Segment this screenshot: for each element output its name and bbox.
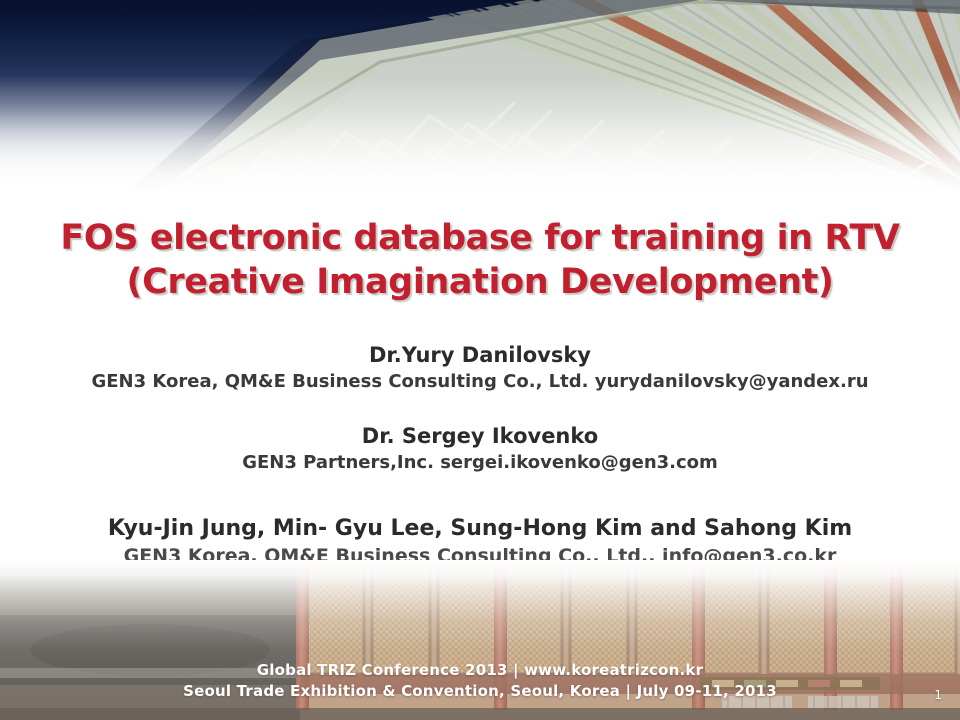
author-name: Dr.Yury Danilovsky — [0, 342, 960, 369]
presentation-slide: FOS electronic database for training in … — [0, 0, 960, 720]
author-block-1: Dr.Yury Danilovsky GEN3 Korea, QM&E Busi… — [0, 342, 960, 395]
author-name: Kyu-Jin Jung, Min- Gyu Lee, Sung-Hong Ki… — [0, 514, 960, 543]
footer-conference-line: Global TRIZ Conference 2013 | www.koreat… — [0, 660, 960, 681]
author-list: Dr.Yury Danilovsky GEN3 Korea, QM&E Busi… — [0, 342, 960, 569]
author-name: Dr. Sergey Ikovenko — [0, 423, 960, 450]
page-number: 1 — [934, 688, 942, 702]
top-banner-fade — [0, 0, 960, 200]
author-affiliation: GEN3 Korea, QM&E Business Consulting Co.… — [0, 369, 960, 395]
top-banner-image — [0, 0, 960, 200]
author-spacer — [0, 395, 960, 423]
title-line-1: FOS electronic database for training in … — [0, 216, 960, 260]
slide-footer: Global TRIZ Conference 2013 | www.koreat… — [0, 660, 960, 702]
author-spacer — [0, 476, 960, 514]
author-affiliation: GEN3 Partners,Inc. sergei.ikovenko@gen3.… — [0, 450, 960, 476]
author-block-2: Dr. Sergey Ikovenko GEN3 Partners,Inc. s… — [0, 423, 960, 476]
slide-title: FOS electronic database for training in … — [0, 216, 960, 304]
footer-venue-line: Seoul Trade Exhibition & Convention, Seo… — [0, 681, 960, 702]
title-line-2: (Creative Imagination Development) — [0, 260, 960, 304]
